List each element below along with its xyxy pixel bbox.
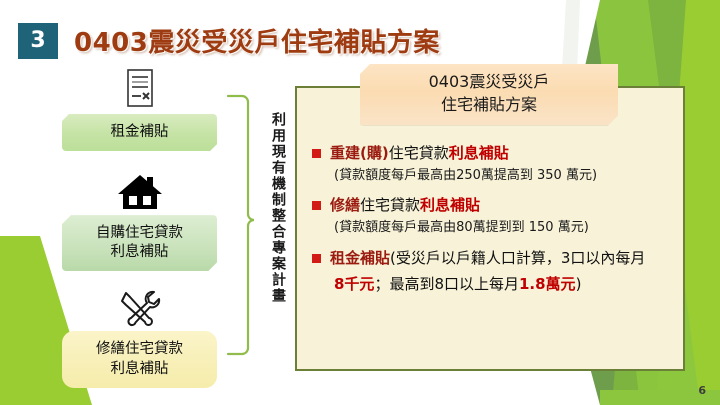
rent-continuation-text: ；最高到8口以上每月: [374, 275, 519, 293]
bullet-square-icon: [312, 201, 321, 210]
title-row: 3 0403震災受災戶住宅補貼方案: [18, 22, 440, 59]
bullet-title-part: 住宅貸款: [360, 196, 420, 214]
rent-amount-max: 1.8萬元: [519, 275, 576, 293]
bullet-item-rebuild: 重建(購)住宅貸款利息補貼: [312, 142, 677, 165]
rent-amount-min: 8千元: [334, 275, 374, 293]
bullet-item-rent: 租金補貼(受災戶以戶籍人口計算，3口以內每月: [312, 247, 677, 270]
bullet-title-part: 租金補貼: [330, 249, 390, 267]
panel-bullet-list: 重建(購)住宅貸款利息補貼 (貸款額度每戶最高由250萬提高到 350 萬元) …: [312, 142, 677, 296]
bullet-title-part: 修繕: [330, 196, 360, 214]
bullet-item-repair: 修繕住宅貸款利息補貼: [312, 194, 677, 217]
subsidy-pill-purchase-loan[interactable]: 自購住宅貸款 利息補貼: [62, 215, 217, 271]
bullet-square-icon: [312, 149, 321, 158]
brace-label: 利用現有機制整合專案計畫: [259, 112, 285, 304]
bullet-title-part: 住宅貸款: [389, 144, 449, 162]
tools-icon: [116, 285, 164, 331]
rent-close-paren: ): [576, 275, 582, 293]
bullet-title-part: 重建(購): [330, 144, 389, 162]
bullet-continuation-rent: 8千元；最高到8口以上每月1.8萬元): [334, 272, 677, 296]
panel-header-callout: 0403震災受災戶 住宅補貼方案: [360, 64, 618, 125]
subsidy-pill-repair-loan[interactable]: 修繕住宅貸款 利息補貼: [62, 331, 217, 387]
document-icon: [125, 66, 155, 112]
bullet-note-rebuild: (貸款額度每戶最高由250萬提高到 350 萬元): [334, 167, 677, 186]
bullet-note-repair: (貸款額度每戶最高由80萬提到到 150 萬元): [334, 219, 677, 238]
bullet-title-part: 利息補貼: [420, 196, 480, 214]
bullet-title-part: 利息補貼: [449, 144, 509, 162]
subsidy-pill-rent[interactable]: 租金補貼: [62, 114, 217, 151]
grouping-brace-icon: [222, 94, 256, 360]
page-title: 0403震災受災戶住宅補貼方案: [74, 22, 440, 59]
bullet-square-icon: [312, 254, 321, 263]
house-icon: [117, 169, 163, 215]
page-number: 6: [698, 384, 706, 397]
bullet-title-part: (受災戶以戶籍人口計算，3口以內每月: [390, 249, 645, 267]
left-column: 租金補貼 自購住宅貸款 利息補貼 修繕住宅貸款 利息補貼: [62, 66, 217, 388]
slide-number-badge: 3: [18, 23, 58, 59]
